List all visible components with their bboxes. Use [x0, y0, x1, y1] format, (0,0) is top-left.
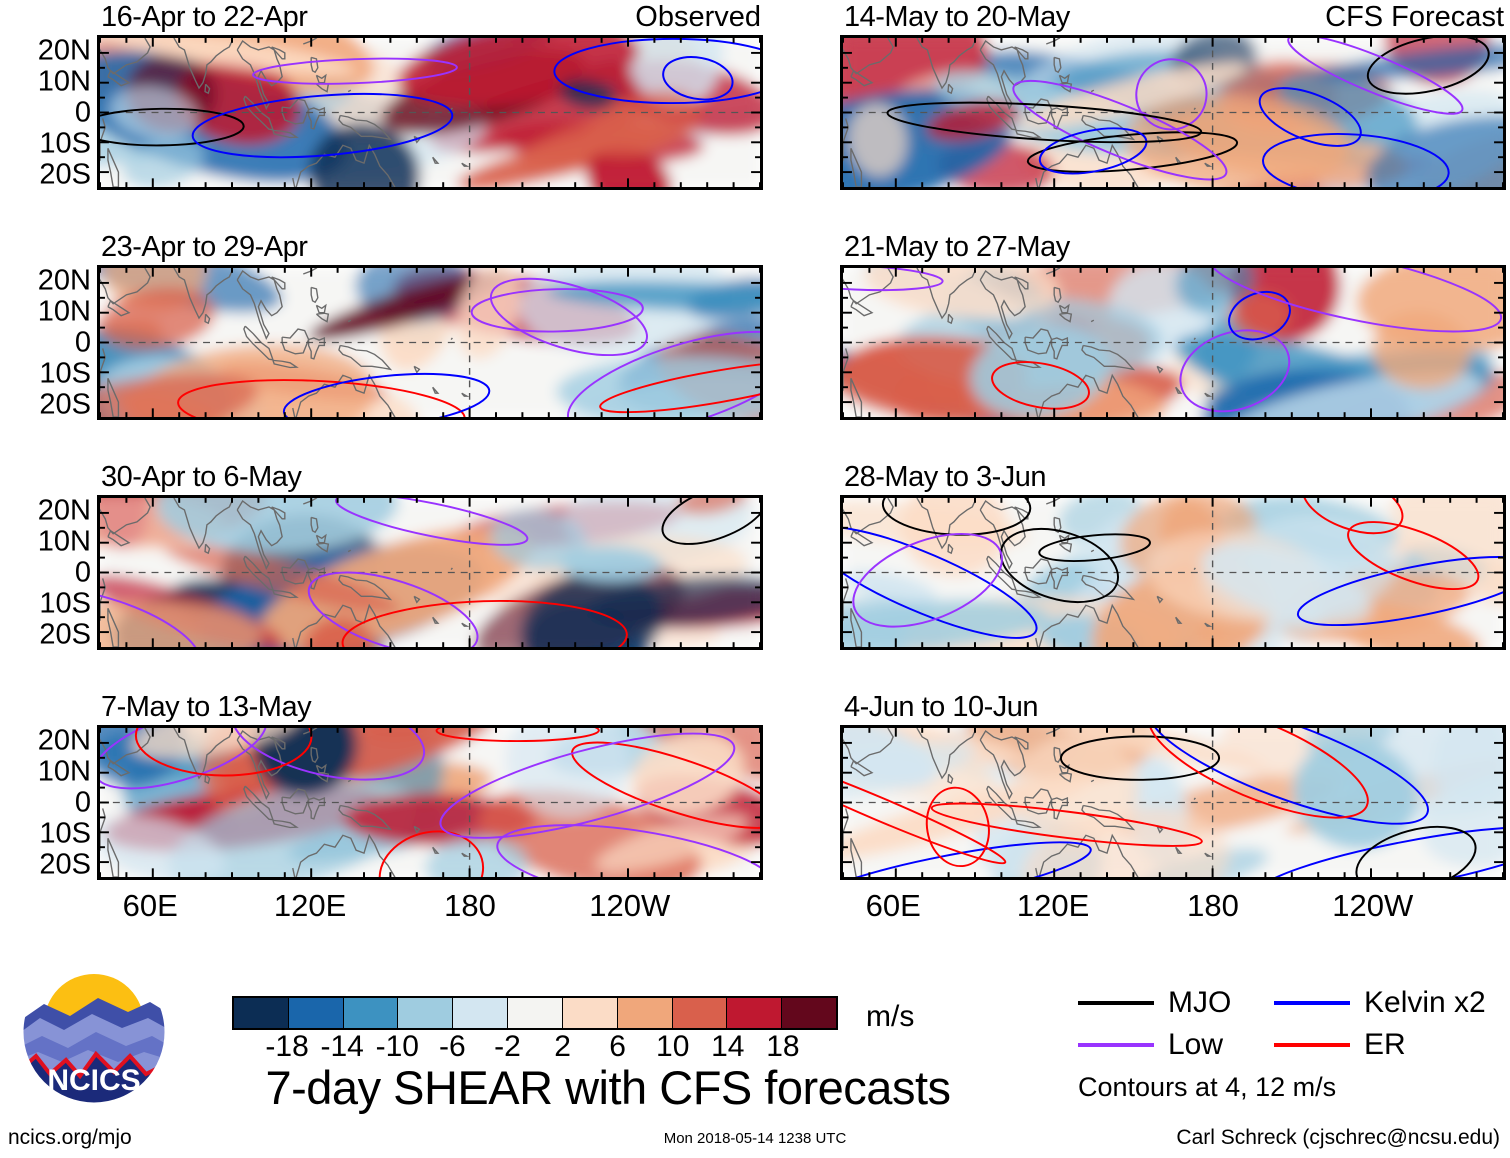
colorbar-tick--14: -14 [320, 1032, 363, 1062]
legend-item-kelvin: Kelvin x2 [1274, 988, 1470, 1018]
panel-title: 21-May to 27-May [844, 231, 1070, 264]
forecast-header: CFS Forecast [1325, 1, 1504, 34]
shading-layer [843, 268, 1503, 417]
y-tick-20S: 20S [39, 160, 91, 189]
y-tick-20S: 20S [39, 390, 91, 419]
y-axis-labels: 20N10N010S20S [5, 725, 97, 880]
y-tick-10S: 10S [39, 589, 91, 618]
colorbar-tick-18: 18 [766, 1032, 799, 1062]
observed-header: Observed [635, 1, 761, 34]
colorbar-swatch-0 [234, 998, 289, 1028]
colorbar-tick--6: -6 [439, 1032, 466, 1062]
contour-note: Contours at 4, 12 m/s [1078, 1072, 1498, 1103]
colorbar-swatch-5 [508, 998, 563, 1028]
legend-label-low: Low [1168, 1030, 1223, 1060]
colorbar-swatch-1 [289, 998, 344, 1028]
colorbar-swatches [232, 996, 838, 1030]
panel-title: 14-May to 20-May [844, 1, 1070, 34]
panel-title: 23-Apr to 29-Apr [101, 231, 307, 264]
colorbar-swatch-6 [563, 998, 618, 1028]
panel-grid: 16-Apr to 22-AprObserved20N10N010S20S14-… [0, 0, 1510, 900]
y-tick-10S: 10S [39, 819, 91, 848]
panel-6: 28-May to 3-Jun [840, 495, 1506, 650]
y-tick-0: 0 [75, 558, 91, 587]
logo-text: NCICS [47, 1064, 140, 1097]
y-tick-20N: 20N [38, 266, 91, 295]
colorbar-tick--18: -18 [265, 1032, 308, 1062]
colorbar-tick-6: 6 [609, 1032, 626, 1062]
figure-main-title: 7-day SHEAR with CFS forecasts [208, 1060, 1008, 1115]
y-tick-20N: 20N [38, 36, 91, 65]
y-tick-0: 0 [75, 788, 91, 817]
low-line-icon [1078, 1043, 1154, 1047]
legend-item-er: ER [1274, 1030, 1470, 1060]
y-tick-10S: 10S [39, 129, 91, 158]
colorbar-swatch-8 [673, 998, 728, 1028]
footer-timestamp: Mon 2018-05-14 1238 UTC [664, 1130, 847, 1147]
panel-5: 30-Apr to 6-May20N10N010S20S [97, 495, 763, 650]
panel-3: 23-Apr to 29-Apr20N10N010S20S [97, 265, 763, 420]
legend-label-kelvin: Kelvin x2 [1364, 988, 1486, 1018]
footer-website[interactable]: ncics.org/mjo [8, 1126, 132, 1150]
panel-1: 16-Apr to 22-AprObserved20N10N010S20S [97, 35, 763, 190]
panel-field [843, 38, 1503, 187]
panel-plot-area [840, 725, 1506, 880]
colorbar-tick-14: 14 [711, 1032, 744, 1062]
panel-field [100, 38, 760, 187]
shading-layer [100, 268, 760, 417]
panel-title: 4-Jun to 10-Jun [844, 691, 1038, 724]
panel-title: 30-Apr to 6-May [101, 461, 301, 494]
shading-layer [100, 728, 760, 877]
panel-title: 16-Apr to 22-Apr [101, 1, 307, 34]
panel-2: 14-May to 20-MayCFS Forecast [840, 35, 1506, 190]
colorbar-swatch-4 [453, 998, 508, 1028]
shading-layer [100, 498, 760, 647]
panel-plot-area [97, 265, 763, 420]
legend-label-er: ER [1364, 1030, 1406, 1060]
contour-legend: MJO Kelvin x2 Low ER Contours at 4, 12 m… [1078, 988, 1498, 1103]
y-tick-10N: 10N [38, 527, 91, 556]
y-tick-10N: 10N [38, 297, 91, 326]
panel-field [100, 728, 760, 877]
figure-footer-area: NCICS -18-14-10-6-226101418 m/s MJO Kelv… [0, 900, 1510, 1158]
legend-item-low: Low [1078, 1030, 1274, 1060]
mjo-line-icon [1078, 1001, 1154, 1005]
colorbar-swatch-9 [727, 998, 782, 1028]
panel-plot-area [840, 495, 1506, 650]
colorbar: -18-14-10-6-226101418 [232, 996, 838, 1066]
shading-layer [843, 498, 1503, 647]
panel-plot-area [97, 495, 763, 650]
y-tick-0: 0 [75, 98, 91, 127]
y-tick-10N: 10N [38, 757, 91, 786]
y-tick-0: 0 [75, 328, 91, 357]
panel-title: 28-May to 3-Jun [844, 461, 1046, 494]
colorbar-swatch-3 [398, 998, 453, 1028]
y-axis-labels: 20N10N010S20S [5, 495, 97, 650]
colorbar-swatch-7 [618, 998, 673, 1028]
panel-7: 7-May to 13-May20N10N010S20S60E120E18012… [97, 725, 763, 880]
colorbar-units: m/s [866, 1000, 914, 1034]
panel-plot-area [97, 35, 763, 190]
panel-field [100, 268, 760, 417]
panel-4: 21-May to 27-May [840, 265, 1506, 420]
legend-label-mjo: MJO [1168, 988, 1231, 1018]
legend-row: MJO Kelvin x2 [1078, 988, 1498, 1018]
colorbar-swatch-10 [782, 998, 836, 1028]
panel-8: 4-Jun to 10-Jun60E120E180120W [840, 725, 1506, 880]
y-tick-20S: 20S [39, 850, 91, 879]
y-axis-labels: 20N10N010S20S [5, 35, 97, 190]
y-tick-20S: 20S [39, 620, 91, 649]
panel-field [100, 498, 760, 647]
er-line-icon [1274, 1043, 1350, 1047]
colorbar-tick--2: -2 [494, 1032, 521, 1062]
panel-field [843, 728, 1503, 877]
panel-plot-area [840, 35, 1506, 190]
footer-author: Carl Schreck (cjschrec@ncsu.edu) [1176, 1126, 1500, 1150]
colorbar-tick-2: 2 [554, 1032, 571, 1062]
y-tick-20N: 20N [38, 726, 91, 755]
colorbar-tick--10: -10 [376, 1032, 419, 1062]
kelvin-line-icon [1274, 1001, 1350, 1005]
legend-row: Low ER [1078, 1030, 1498, 1060]
legend-item-mjo: MJO [1078, 988, 1274, 1018]
panel-plot-area [840, 265, 1506, 420]
y-axis-labels: 20N10N010S20S [5, 265, 97, 420]
page-footer: ncics.org/mjo Mon 2018-05-14 1238 UTC Ca… [0, 1126, 1510, 1158]
colorbar-swatch-2 [344, 998, 399, 1028]
panel-title: 7-May to 13-May [101, 691, 311, 724]
colorbar-tick-10: 10 [656, 1032, 689, 1062]
ncics-logo: NCICS [18, 956, 170, 1108]
panel-field [843, 498, 1503, 647]
panel-plot-area [97, 725, 763, 880]
shading-layer [843, 728, 1503, 877]
panel-field [843, 268, 1503, 417]
y-tick-10N: 10N [38, 67, 91, 96]
y-tick-20N: 20N [38, 496, 91, 525]
y-tick-10S: 10S [39, 359, 91, 388]
